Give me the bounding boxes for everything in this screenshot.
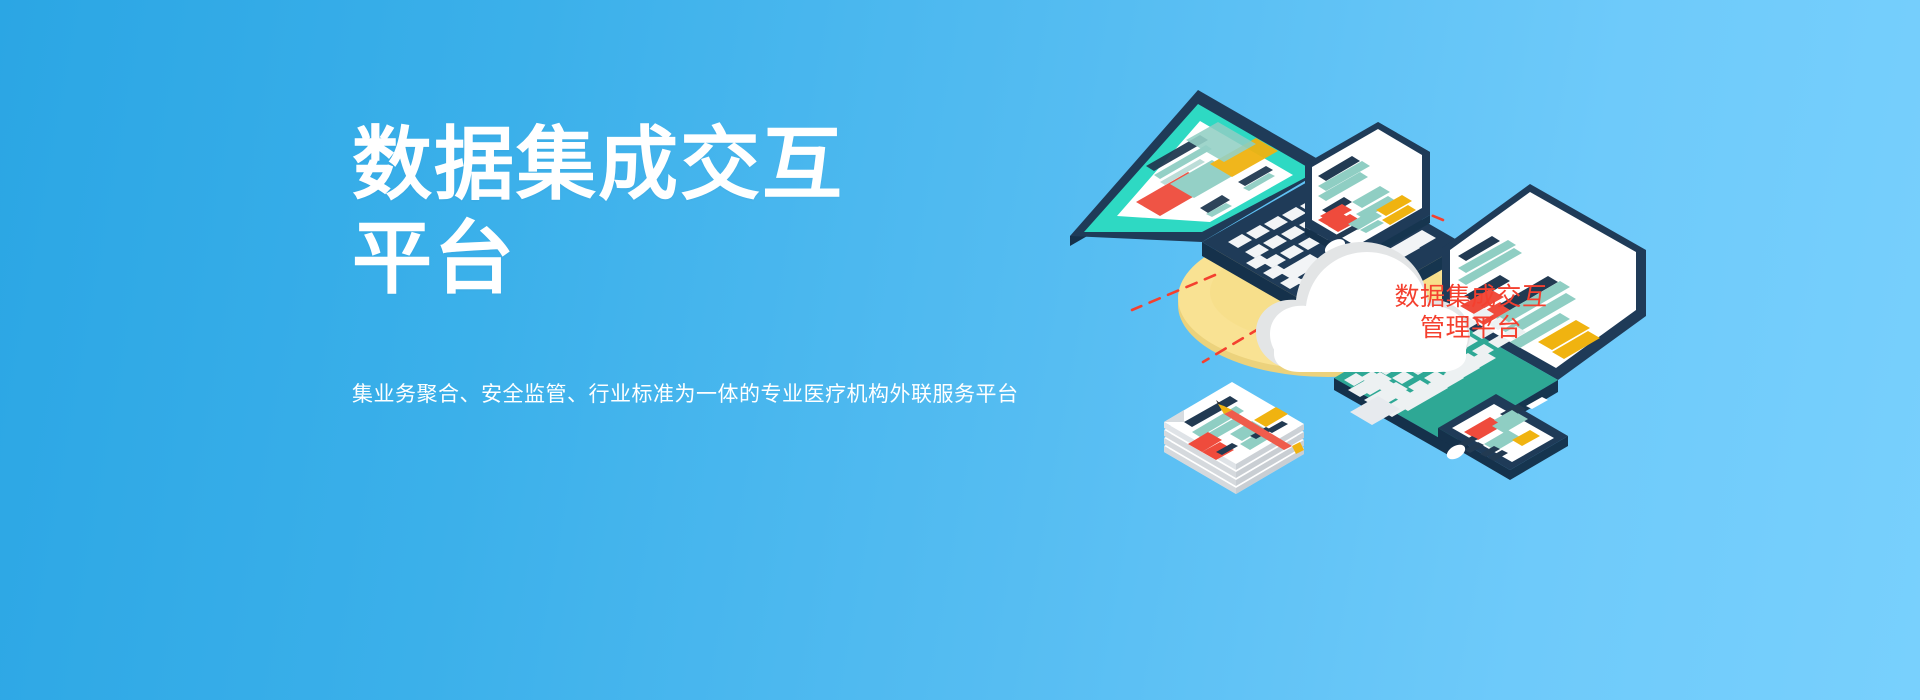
- hero-banner: 数据集成交互 平台 集业务聚合、安全监管、行业标准为一体的专业医疗机构外联服务平…: [0, 0, 1920, 700]
- document-stack-illustration: [1164, 382, 1304, 494]
- cloud-platform-label: 数据集成交互 管理平台: [1356, 282, 1586, 344]
- hero-illustration: 数据集成交互 管理平台: [1060, 60, 1880, 580]
- page-title: 数据集成交互 平台: [352, 118, 1052, 306]
- page-subtitle: 集业务聚合、安全监管、行业标准为一体的专业医疗机构外联服务平台: [352, 380, 1019, 410]
- banner-text-block: 数据集成交互 平台: [352, 118, 1052, 306]
